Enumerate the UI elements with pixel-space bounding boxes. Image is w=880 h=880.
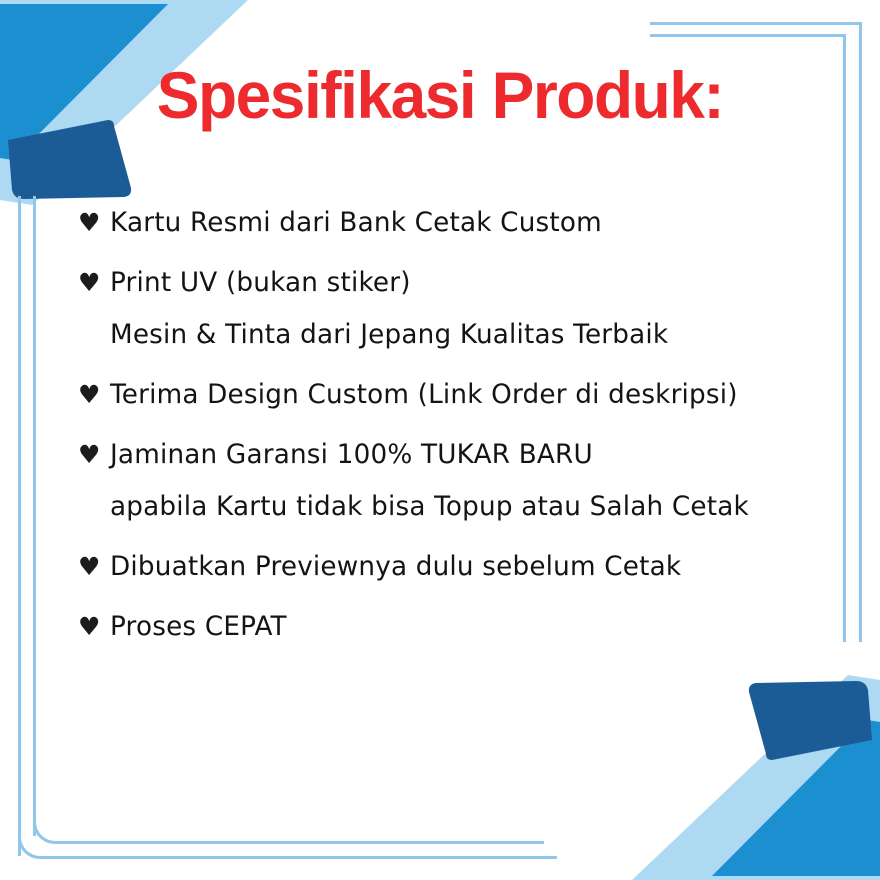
dark-navy-quad-shape — [8, 120, 131, 199]
list-item: ♥ Proses CEPAT — [78, 610, 858, 644]
heart-bullet-icon: ♥ — [78, 610, 110, 644]
list-item-line: Mesin & Tinta dari Jepang Kualitas Terba… — [110, 318, 851, 352]
list-item-line: Print UV (bukan stiker) — [110, 266, 851, 300]
list-item-text-block: Proses CEPAT — [110, 610, 858, 644]
list-item-line: apabila Kartu tidak bisa Topup atau Sala… — [110, 490, 851, 524]
heart-bullet-icon: ♥ — [78, 266, 110, 300]
list-item: ♥ Terima Design Custom (Link Order di de… — [78, 378, 858, 412]
frame-line-top-inner — [650, 34, 846, 37]
list-item-line: Terima Design Custom (Link Order di desk… — [110, 378, 851, 412]
heart-bullet-icon: ♥ — [78, 206, 110, 240]
heart-bullet-icon: ♥ — [78, 378, 110, 412]
list-item-line: Jaminan Garansi 100% TUKAR BARU — [110, 438, 851, 472]
list-item-line: Proses CEPAT — [110, 610, 851, 644]
list-item-line: Dibuatkan Previewnya dulu sebelum Cetak — [110, 550, 851, 584]
list-item-text-block: Jaminan Garansi 100% TUKAR BARU apabila … — [110, 438, 858, 524]
list-item-text-block: Dibuatkan Previewnya dulu sebelum Cetak — [110, 550, 858, 584]
heart-bullet-icon: ♥ — [78, 438, 110, 472]
heart-bullet-icon: ♥ — [78, 550, 110, 584]
medium-blue-wedge-shape-mirrored — [712, 720, 880, 876]
page-title: Spesifikasi Produk: — [13, 62, 867, 128]
list-item-text-block: Terima Design Custom (Link Order di desk… — [110, 378, 858, 412]
dark-navy-quad-shape-mirrored — [749, 681, 872, 760]
list-item-text-block: Kartu Resmi dari Bank Cetak Custom — [110, 206, 858, 240]
light-blue-wedge-shape-mirrored — [632, 675, 880, 880]
product-spec-poster: Spesifikasi Produk: ♥ Kartu Resmi dari B… — [0, 0, 880, 880]
list-item: ♥ Kartu Resmi dari Bank Cetak Custom — [78, 206, 858, 240]
specification-list: ♥ Kartu Resmi dari Bank Cetak Custom ♥ P… — [78, 206, 858, 670]
frame-corner-bottom-left-inner — [33, 700, 544, 844]
list-item: ♥ Print UV (bukan stiker) Mesin & Tinta … — [78, 266, 858, 352]
list-item: ♥ Dibuatkan Previewnya dulu sebelum Ceta… — [78, 550, 858, 584]
frame-line-top-outer — [650, 22, 862, 25]
list-item-text-block: Print UV (bukan stiker) Mesin & Tinta da… — [110, 266, 858, 352]
list-item-line: Kartu Resmi dari Bank Cetak Custom — [110, 206, 851, 240]
list-item: ♥ Jaminan Garansi 100% TUKAR BARU apabil… — [78, 438, 858, 524]
